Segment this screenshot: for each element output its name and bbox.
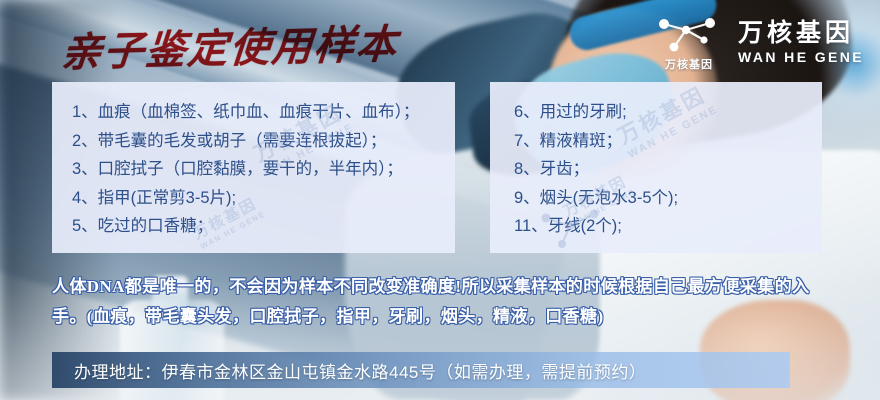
logo-mark-caption: 万核基因: [652, 56, 726, 72]
list-item: 1、血痕（血棉签、纸巾血、血痕干片、血布）；: [72, 98, 455, 127]
sample-list-card-right: 万核基因 WAN HE GENE 万核基因 WAN HE GENE 6、用过的牙…: [490, 82, 822, 253]
brand-wordmark: 万核基因 WAN HE GENE: [738, 19, 864, 66]
office-address-bar: 办理地址：伊春市金林区金山屯镇金水路445号（如需办理，需提前预约）: [52, 352, 790, 388]
dna-note-paragraph: 人体DNA都是唯一的，不会因为样本不同改变准确度!所以采集样本的时候根据自己最方…: [52, 272, 842, 332]
list-item: 7、精液精斑；: [514, 127, 822, 156]
molecule-node-icon: 万核基因: [652, 14, 726, 70]
brand-name-cn: 万核基因: [738, 19, 864, 48]
sample-list-card-left: 万核基因 WAN HE GENE 万核基因 WAN HE GENE 1、血痕（血…: [52, 82, 455, 253]
list-item: 6、用过的牙刷;: [514, 98, 822, 127]
watermark-molecule-icon: [536, 200, 616, 253]
list-item: 3、口腔拭子（口腔黏膜，要干的，半年内）；: [72, 155, 455, 184]
office-address-text: 办理地址：伊春市金林区金山屯镇金水路445号（如需办理，需提前预约）: [52, 358, 646, 383]
brand-name-en: WAN HE GENE: [738, 49, 864, 65]
list-item: 4、指甲(正常剪3-5片);: [72, 184, 455, 213]
list-item: 2、带毛囊的毛发或胡子（需要连根拔起）；: [72, 127, 455, 156]
sample-list-left: 1、血痕（血棉签、纸巾血、血痕干片、血布）； 2、带毛囊的毛发或胡子（需要连根拔…: [52, 82, 455, 241]
page-title: 亲子鉴定使用样本: [59, 12, 400, 79]
list-item: 8、牙齿；: [514, 155, 822, 184]
brand-logo: 万核基因 万核基因 WAN HE GENE: [652, 14, 864, 70]
list-item: 5、吃过的口香糖；: [72, 212, 455, 241]
